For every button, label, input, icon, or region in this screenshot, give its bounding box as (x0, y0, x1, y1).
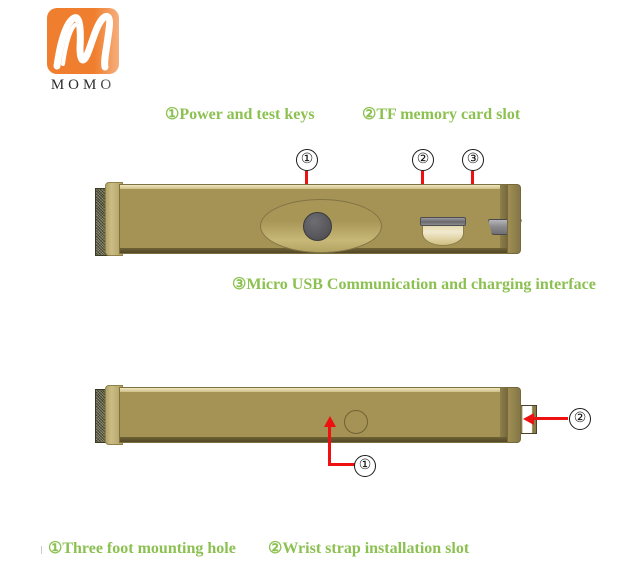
leader-line-1-back-vertical (328, 424, 331, 466)
callout-1-front: ① (296, 149, 318, 171)
body-top-highlight (120, 185, 510, 189)
leader-arrow-2-back (523, 413, 534, 425)
power-and-test-button[interactable] (303, 212, 332, 241)
tf-memory-card-slot[interactable] (420, 217, 464, 245)
caption-mounting-hole: ①Three foot mounting hole (48, 538, 236, 558)
leader-line-2-back (530, 417, 568, 420)
device-front-face-view (95, 178, 533, 258)
page-edge-tick (41, 546, 42, 554)
body-bottom-shade-back (120, 437, 510, 442)
device-body-back (119, 387, 511, 443)
caption-tf-slot: ②TF memory card slot (362, 104, 520, 124)
caption-micro-usb: ③Micro USB Communication and charging in… (232, 274, 596, 294)
callout-2-back: ② (569, 408, 591, 430)
body-right-cap-back (507, 387, 521, 443)
caption-power-keys: ①Power and test keys (165, 104, 315, 124)
body-right-cap (507, 184, 521, 254)
brand-logo: MOMO (36, 8, 130, 100)
brand-wordmark: MOMO (36, 78, 130, 93)
caption-strap-slot: ②Wrist strap installation slot (268, 538, 469, 558)
leader-arrow-1-back (324, 416, 336, 427)
callout-2-front: ② (412, 149, 434, 171)
body-top-highlight-back (120, 388, 510, 392)
callout-1-back: ① (354, 455, 376, 477)
tf-slot-bar (420, 217, 466, 226)
device-body (119, 184, 511, 254)
product-diagram-page: MOMO ①Power and test keys ②TF memory car… (0, 0, 627, 573)
momo-logo-icon (47, 8, 119, 74)
leader-line-1-back-horizontal (328, 463, 355, 466)
device-back-face-view (95, 383, 533, 445)
callout-3-front: ③ (462, 149, 484, 171)
three-foot-mounting-hole[interactable] (344, 410, 368, 434)
